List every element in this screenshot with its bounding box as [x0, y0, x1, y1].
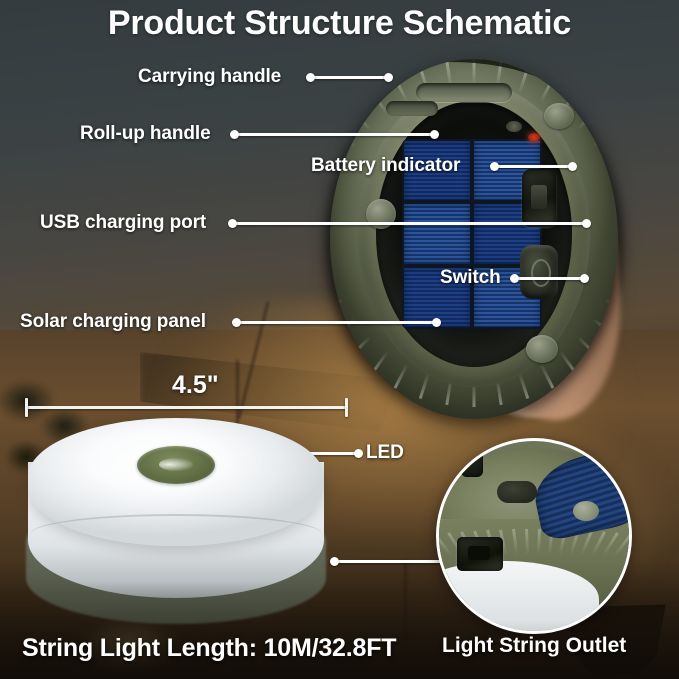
- leader-line-carrying-handle: [314, 76, 390, 79]
- inset-caption: Light String Outlet: [442, 634, 626, 658]
- page-title: Product Structure Schematic: [0, 4, 679, 43]
- leader-dot-switch: [510, 274, 519, 283]
- dimension-cap-right: [345, 398, 348, 417]
- leader-endpoint-battery-indicator: [568, 162, 577, 171]
- leader-dot-solar-panel: [232, 318, 241, 327]
- dimension-line: [27, 406, 347, 409]
- switch-button[interactable]: [520, 245, 558, 299]
- leader-endpoint-solar-panel: [432, 318, 441, 327]
- product-housing: [330, 59, 618, 419]
- leader-dot-carrying-handle: [306, 73, 315, 82]
- inset-usb-port: [461, 443, 483, 477]
- product-top-view: [330, 65, 618, 425]
- callout-label-roll-up-handle: Roll-up handle: [80, 123, 211, 145]
- leader-line-usb-port: [236, 222, 588, 225]
- callout-label-battery-indicator: Battery indicator: [311, 155, 460, 177]
- bezel-rib: [518, 373, 529, 399]
- callout-label-solar-panel: Solar charging panel: [20, 311, 206, 333]
- inset-housing-dot: [573, 501, 599, 521]
- battery-indicator-dim: [506, 121, 522, 132]
- callout-label-carrying-handle: Carrying handle: [138, 66, 281, 88]
- brand-logo: [137, 446, 215, 484]
- leader-line-light-string-outlet: [338, 560, 446, 563]
- inset-bezel-rib: [512, 529, 518, 555]
- bezel-rib: [540, 364, 554, 389]
- light-string-outlet-port: [457, 537, 503, 571]
- leader-line-switch: [518, 277, 586, 280]
- bezel-rib: [605, 153, 618, 167]
- bezel-rib: [560, 352, 578, 375]
- leader-dot-led: [354, 449, 363, 458]
- leader-dot-battery-indicator: [490, 162, 499, 171]
- leader-line-solar-panel: [240, 321, 438, 324]
- battery-indicator-led: [528, 133, 540, 142]
- callout-label-usb-charging-port: USB charging port: [40, 212, 206, 234]
- puck-seam: [30, 514, 322, 554]
- housing-dot: [544, 103, 574, 129]
- bezel-rib: [394, 364, 408, 389]
- bezel-rib: [371, 352, 389, 375]
- detail-inset-light-string-outlet: [436, 438, 632, 634]
- leader-dot-roll-up-handle: [230, 130, 239, 139]
- leader-line-roll-up-handle: [238, 133, 436, 136]
- string-light-length-text: String Light Length: 10M/32.8FT: [22, 634, 396, 663]
- bezel-rib: [419, 373, 430, 399]
- leader-endpoint-usb-port: [582, 219, 591, 228]
- leader-endpoint-roll-up-handle: [430, 130, 439, 139]
- dimension-cap-left: [25, 398, 28, 417]
- callout-label-led: LED: [366, 442, 404, 464]
- inset-bezel-rib: [525, 529, 529, 555]
- inset-bezel-rib: [537, 529, 541, 555]
- roll-up-handle-secondary[interactable]: [386, 101, 438, 116]
- leader-endpoint-switch: [580, 274, 589, 283]
- solar-cell: [404, 204, 470, 263]
- roll-up-handle[interactable]: [416, 83, 512, 102]
- leader-dot-usb-port: [228, 219, 237, 228]
- product-led-puck: [18, 418, 338, 633]
- usb-charging-port[interactable]: [522, 169, 556, 227]
- inset-switch-button: [497, 481, 537, 503]
- bezel-rib: [614, 178, 618, 189]
- infographic-canvas: Product Structure Schematic: [0, 0, 679, 679]
- dimension-value: 4.5": [172, 371, 219, 400]
- callout-label-switch: Switch: [440, 267, 501, 289]
- housing-dot: [526, 335, 558, 363]
- leader-line-battery-indicator: [498, 165, 574, 168]
- leader-endpoint-carrying-handle: [384, 73, 393, 82]
